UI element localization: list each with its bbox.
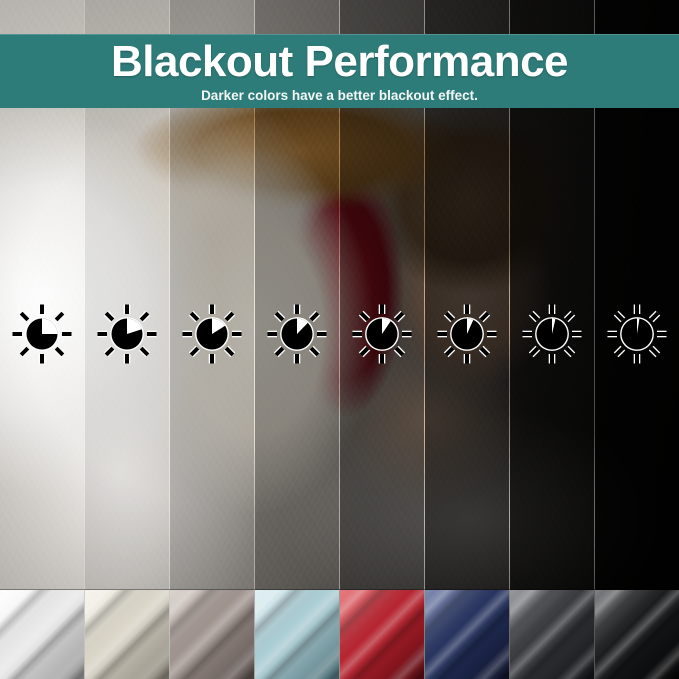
swatch-sheen [425, 590, 509, 679]
swatch-sheen [510, 590, 594, 679]
brightness-dial-icon [606, 303, 668, 365]
brightness-dial-icon [436, 303, 498, 365]
blackout-performance-infographic: Blackout Performance Darker colors have … [0, 0, 679, 679]
fabric-swatch-red[interactable] [340, 590, 425, 679]
brightness-dial-icon [181, 303, 243, 365]
brightness-icon-cell-2 [85, 303, 170, 365]
brightness-dial-icon [351, 303, 413, 365]
fabric-swatch-taupe[interactable] [170, 590, 255, 679]
fabric-swatch-white[interactable] [0, 590, 85, 679]
fabric-swatch-black[interactable] [595, 590, 679, 679]
brightness-icon-cell-4 [255, 303, 340, 365]
fabric-swatch-beige[interactable] [85, 590, 170, 679]
brightness-dial-icon [96, 303, 158, 365]
header-banner: Blackout Performance Darker colors have … [0, 34, 679, 108]
fabric-swatch-strip [0, 589, 679, 679]
brightness-icon-cell-8 [594, 303, 679, 365]
brightness-icon-cell-1 [0, 303, 85, 365]
page-subtitle: Darker colors have a better blackout eff… [201, 89, 478, 103]
fabric-swatch-navy[interactable] [425, 590, 510, 679]
brightness-dial-icon [266, 303, 328, 365]
swatch-sheen [85, 590, 169, 679]
brightness-icon-cell-7 [509, 303, 594, 365]
swatch-sheen [170, 590, 254, 679]
fabric-swatch-dark-grey[interactable] [510, 590, 595, 679]
page-title: Blackout Performance [111, 40, 568, 84]
brightness-dial-icon [521, 303, 583, 365]
brightness-icon-cell-3 [170, 303, 255, 365]
brightness-icon-cell-6 [424, 303, 509, 365]
swatch-sheen [255, 590, 339, 679]
brightness-icon-cell-5 [340, 303, 425, 365]
swatch-sheen [340, 590, 424, 679]
brightness-dial-icon [11, 303, 73, 365]
swatch-sheen [595, 590, 679, 679]
fabric-swatch-light-blue[interactable] [255, 590, 340, 679]
swatch-sheen [0, 590, 84, 679]
brightness-icon-row [0, 303, 679, 365]
